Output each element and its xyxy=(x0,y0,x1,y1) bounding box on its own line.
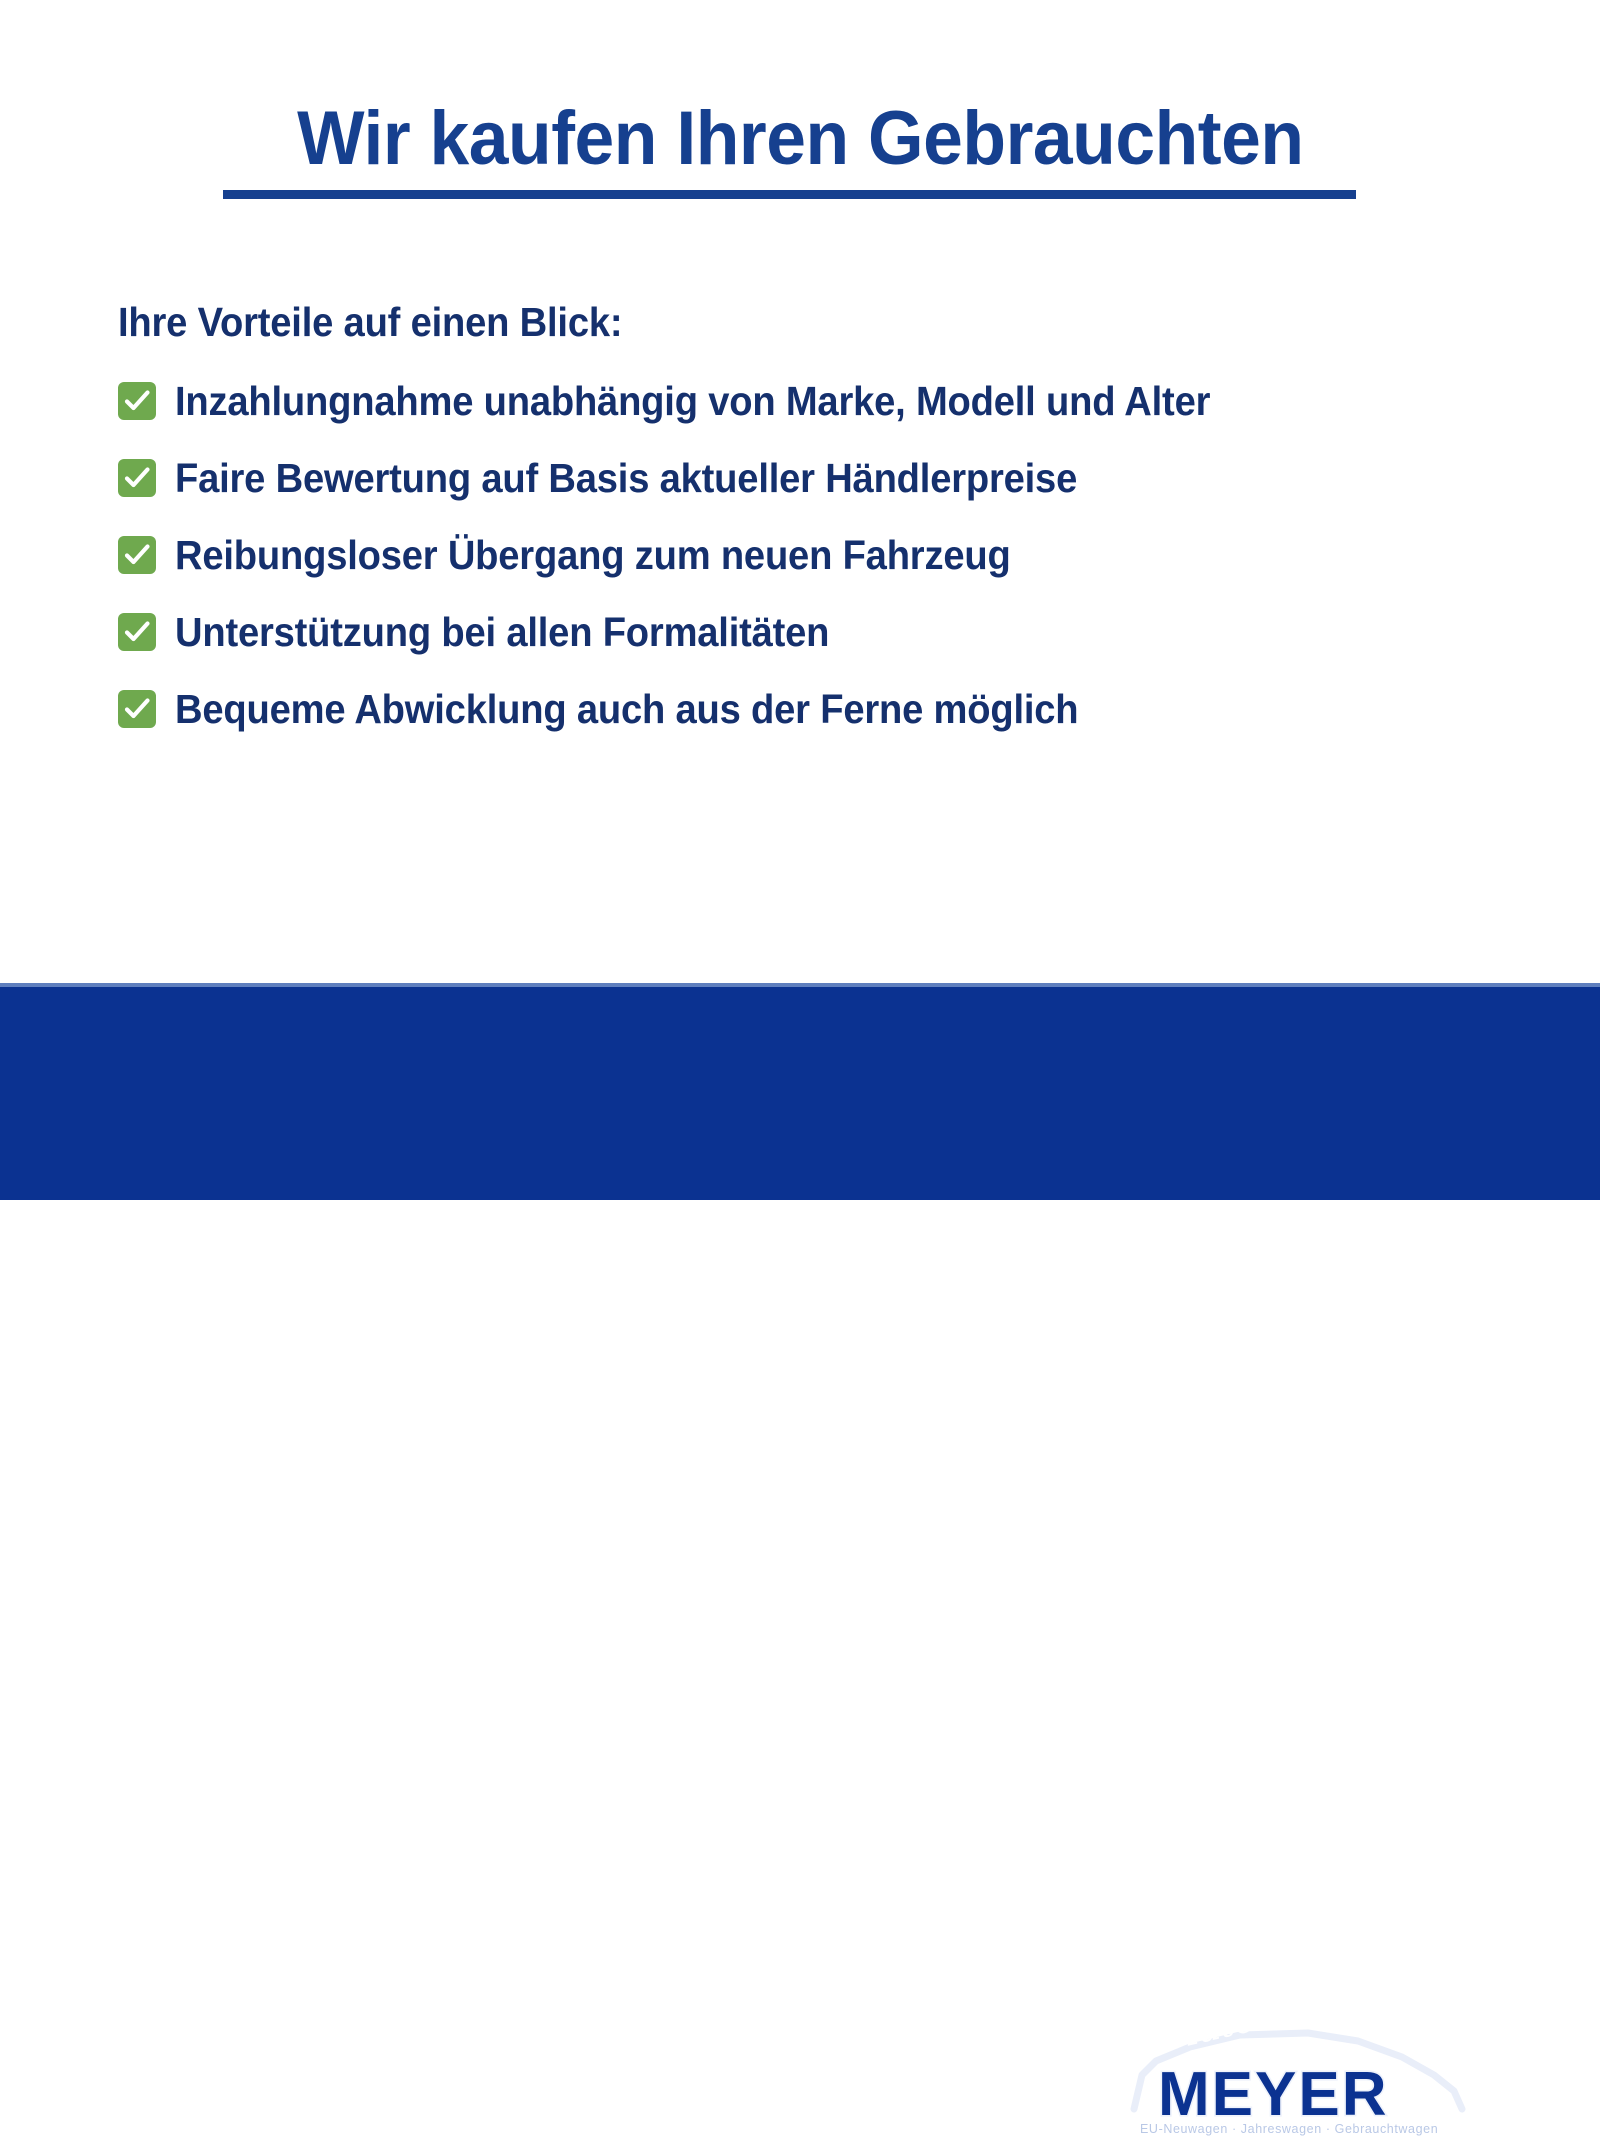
headline-underline xyxy=(223,190,1356,199)
logo-script-text: Autohaus xyxy=(1164,1991,1343,2058)
list-item: Bequeme Abwicklung auch aus der Ferne mö… xyxy=(118,680,1518,738)
check-square-icon xyxy=(118,613,156,651)
check-square-icon xyxy=(118,382,156,420)
list-item-label: Faire Bewertung auf Basis aktueller Händ… xyxy=(175,453,1077,503)
benefits-heading: Ihre Vorteile auf einen Blick: xyxy=(118,296,1420,348)
poster-body: Wir kaufen Ihren Gebrauchten Ihre Vortei… xyxy=(0,0,1600,987)
footer-slogan: Clever sparen. Besser fahren. xyxy=(133,2019,864,2085)
list-item-label: Bequeme Abwicklung auch aus der Ferne mö… xyxy=(175,684,1078,734)
list-item: Unterstützung bei allen Formalitäten xyxy=(118,603,1518,661)
headline-container: Wir kaufen Ihren Gebrauchten xyxy=(0,96,1600,182)
check-square-icon xyxy=(118,536,156,574)
list-item: Reibungsloser Übergang zum neuen Fahrzeu… xyxy=(118,526,1518,584)
logo-tagline: EU-Neuwagen · Jahreswagen · Gebrauchtwag… xyxy=(1140,2122,1438,2136)
benefits-section: Ihre Vorteile auf einen Blick: Inzahlung… xyxy=(118,296,1518,757)
footer-band: Clever sparen. Besser fahren. Autohaus M… xyxy=(0,987,1600,1200)
list-item-label: Unterstützung bei allen Formalitäten xyxy=(175,607,829,657)
check-square-icon xyxy=(118,459,156,497)
list-item-label: Inzahlungnahme unabhängig von Marke, Mod… xyxy=(175,376,1210,426)
logo-wordmark: MEYER xyxy=(1158,2060,1388,2129)
brand-logo: Autohaus MEYER EU-Neuwagen · Jahreswagen… xyxy=(1112,1991,1472,2143)
check-square-icon xyxy=(118,690,156,728)
list-item-label: Reibungsloser Übergang zum neuen Fahrzeu… xyxy=(175,530,1011,580)
page-title: Wir kaufen Ihren Gebrauchten xyxy=(297,96,1303,182)
list-item: Faire Bewertung auf Basis aktueller Händ… xyxy=(118,449,1518,507)
list-item: Inzahlungnahme unabhängig von Marke, Mod… xyxy=(118,372,1518,430)
